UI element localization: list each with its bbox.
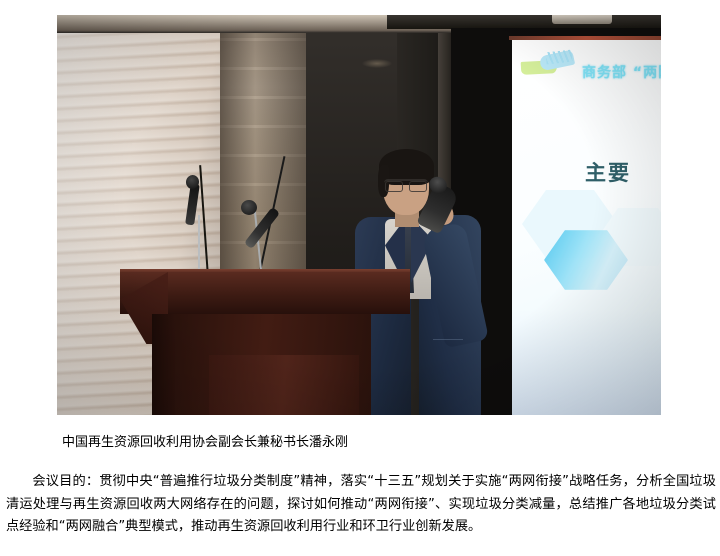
wall-light-reflection [362, 59, 392, 68]
body-paragraph: 会议目的：贯彻中央“普遍推行垃圾分类制度”精神，落实“十三五”规划关于实施“两网… [6, 471, 716, 539]
screen-bottom-gradient [512, 310, 661, 415]
conference-photo: 商务部 “两网衔接 主要 [57, 15, 661, 415]
slide-header-text: 商务部 “两网衔接 [582, 62, 661, 82]
microphone-stand-1 [198, 215, 200, 277]
photo-caption: 中国再生资源回收利用协会副会长兼秘书长潘永刚 [62, 433, 348, 453]
projection-screen: 商务部 “两网衔接 主要 [512, 40, 661, 415]
jacket-pocket [433, 339, 463, 356]
eyeglasses [384, 179, 428, 191]
ceiling-light-fixture [552, 15, 612, 24]
slide-title-text: 主要 [585, 157, 631, 187]
ceiling-dark-strip [387, 15, 661, 29]
podium-column-front [209, 355, 359, 415]
podium-microphone-2-head-icon [241, 200, 257, 215]
